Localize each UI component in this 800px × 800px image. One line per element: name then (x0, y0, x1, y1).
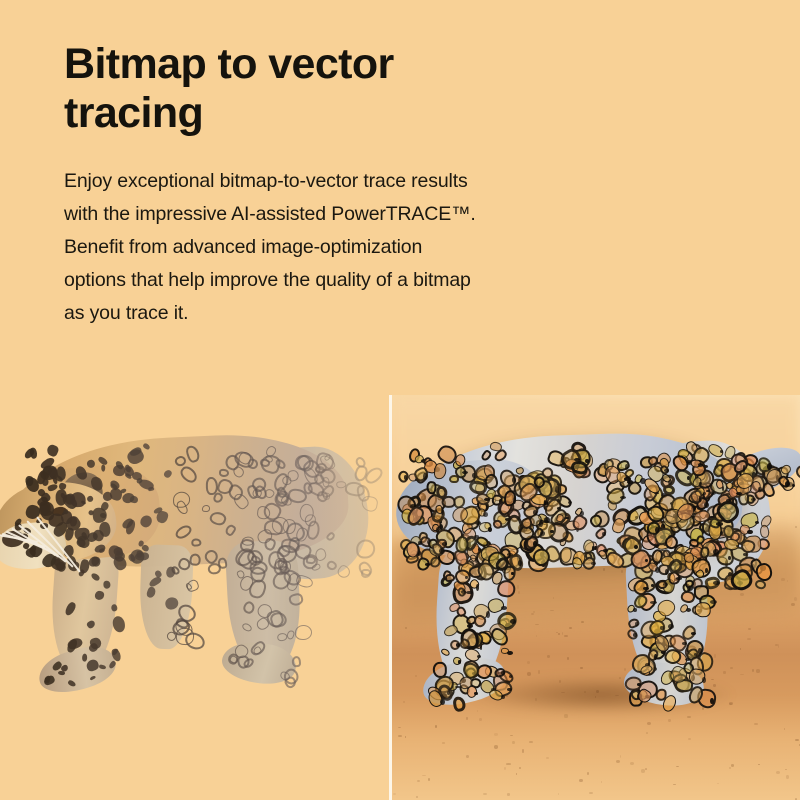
fur-spot (580, 511, 584, 516)
fur-spot (651, 584, 654, 588)
fur-spot (634, 545, 638, 549)
fur-spot (568, 501, 573, 505)
fur-spot (458, 660, 461, 663)
fur-spot (654, 654, 657, 660)
fur-spot (440, 699, 445, 705)
fur-spot (592, 546, 595, 551)
fur-spot (555, 486, 559, 492)
fur-spot (624, 477, 630, 480)
fur-spot (486, 611, 490, 617)
fur-spot (483, 512, 488, 517)
fur-spot (513, 497, 516, 503)
fur-spot (698, 463, 704, 466)
fur-spot (686, 608, 691, 612)
fur-spot (447, 691, 450, 695)
fur-spot (620, 496, 626, 499)
fur-marking (183, 631, 206, 651)
fur-spot (507, 651, 512, 655)
fur-spot (544, 517, 549, 523)
fur-spot (456, 643, 460, 646)
fur-spot (699, 482, 702, 485)
fur-spot (713, 581, 719, 585)
fur-marking (173, 492, 190, 508)
fur-rosette (444, 573, 455, 582)
fur-spot (668, 624, 674, 629)
fur-spot (785, 481, 790, 487)
fur-spot (676, 577, 682, 581)
fur-marking (201, 504, 209, 511)
fur-spot (509, 675, 512, 678)
fur-spot (550, 530, 554, 534)
fur-spot (501, 606, 507, 610)
photo-leopard (392, 395, 800, 800)
fur-spot (602, 532, 605, 536)
fur-marking (249, 560, 267, 575)
fur-spot (501, 695, 505, 699)
fur-rosette (700, 546, 710, 558)
fur-spot (713, 549, 718, 555)
fur-marking (291, 656, 301, 668)
fur-marking (41, 478, 48, 486)
vector-traced-half (0, 395, 390, 800)
body-paragraph: Enjoy exceptional bitmap-to-vector trace… (64, 165, 484, 330)
fur-marking (242, 536, 254, 545)
fur-spot (423, 473, 427, 479)
fur-spot (585, 459, 589, 463)
fur-spot (650, 601, 656, 604)
fur-marking (71, 492, 86, 507)
fur-spot (710, 698, 714, 704)
leopard-front-paw (34, 640, 120, 700)
fur-rosette (395, 469, 410, 485)
fur-marking (112, 616, 125, 632)
fur-spot (704, 502, 709, 508)
fur-spot (633, 608, 637, 613)
promo-panel: Bitmap to vector tracing Enjoy exception… (0, 0, 800, 800)
fur-spot (702, 677, 706, 683)
fur-spot (518, 560, 522, 566)
fur-marking (103, 581, 110, 589)
fur-spot (510, 619, 516, 624)
fur-spot (660, 626, 663, 629)
fur-spot (439, 524, 443, 530)
comparison-divider (389, 395, 392, 800)
fur-spot (540, 531, 545, 535)
fur-spot (404, 475, 407, 479)
original-photo-half (392, 395, 800, 800)
fur-spot (635, 622, 638, 627)
fur-marking (111, 604, 118, 612)
fur-spot (643, 587, 648, 591)
trace-fade-overlay (304, 395, 390, 800)
fur-spot (633, 633, 637, 636)
fur-spot (442, 542, 447, 546)
fur-rosette (695, 602, 711, 618)
fur-spot (758, 487, 761, 491)
fur-spot (478, 548, 481, 551)
fur-spot (792, 484, 795, 488)
fur-spot (716, 522, 722, 525)
fur-spot (703, 492, 706, 495)
fur-rosette (759, 525, 769, 539)
text-block: Bitmap to vector tracing Enjoy exception… (64, 40, 484, 330)
fur-spot (755, 521, 759, 524)
fur-spot (720, 531, 723, 535)
fur-marking (218, 468, 229, 476)
fur-marking (45, 443, 60, 458)
page-title: Bitmap to vector tracing (64, 40, 484, 139)
fur-spot (441, 508, 444, 514)
fur-spot (533, 541, 536, 547)
fur-spot (655, 567, 660, 573)
fur-spot (747, 530, 752, 534)
bitmap-vector-comparison (0, 395, 800, 800)
fur-spot (663, 583, 668, 586)
